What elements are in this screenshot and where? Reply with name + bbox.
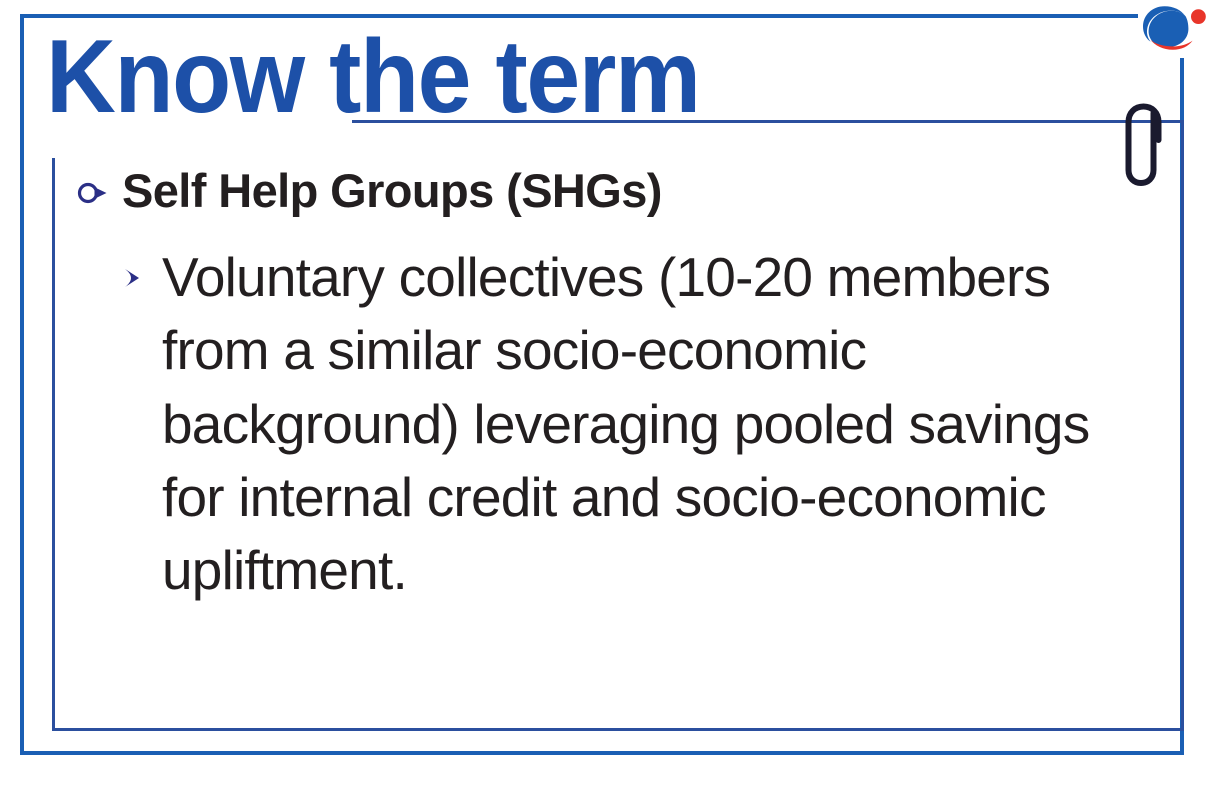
brand-logo bbox=[1134, 2, 1208, 58]
circle-arrow-bullet-icon bbox=[74, 176, 108, 210]
outer-frame-left-edge bbox=[20, 14, 24, 751]
slide-canvas: Know the term Self Help Groups (SHGs) Vo… bbox=[0, 0, 1224, 791]
inner-frame-right-edge bbox=[1181, 120, 1184, 731]
sub-list-item: Voluntary collectives (10-20 members fro… bbox=[120, 241, 1154, 607]
outer-frame-bottom-edge bbox=[20, 751, 1184, 755]
list-item: Self Help Groups (SHGs) bbox=[74, 162, 1154, 219]
outer-frame-top-edge bbox=[20, 14, 1138, 18]
inner-frame-left-edge bbox=[52, 158, 55, 728]
inner-frame-bottom-edge bbox=[52, 728, 1184, 731]
content-body: Self Help Groups (SHGs) Voluntary collec… bbox=[74, 162, 1154, 607]
chevron-right-bullet-icon bbox=[120, 263, 146, 293]
list-item-title: Self Help Groups (SHGs) bbox=[122, 162, 662, 219]
sub-list-item-text: Voluntary collectives (10-20 members fro… bbox=[162, 241, 1142, 607]
page-title: Know the term bbox=[46, 24, 700, 130]
